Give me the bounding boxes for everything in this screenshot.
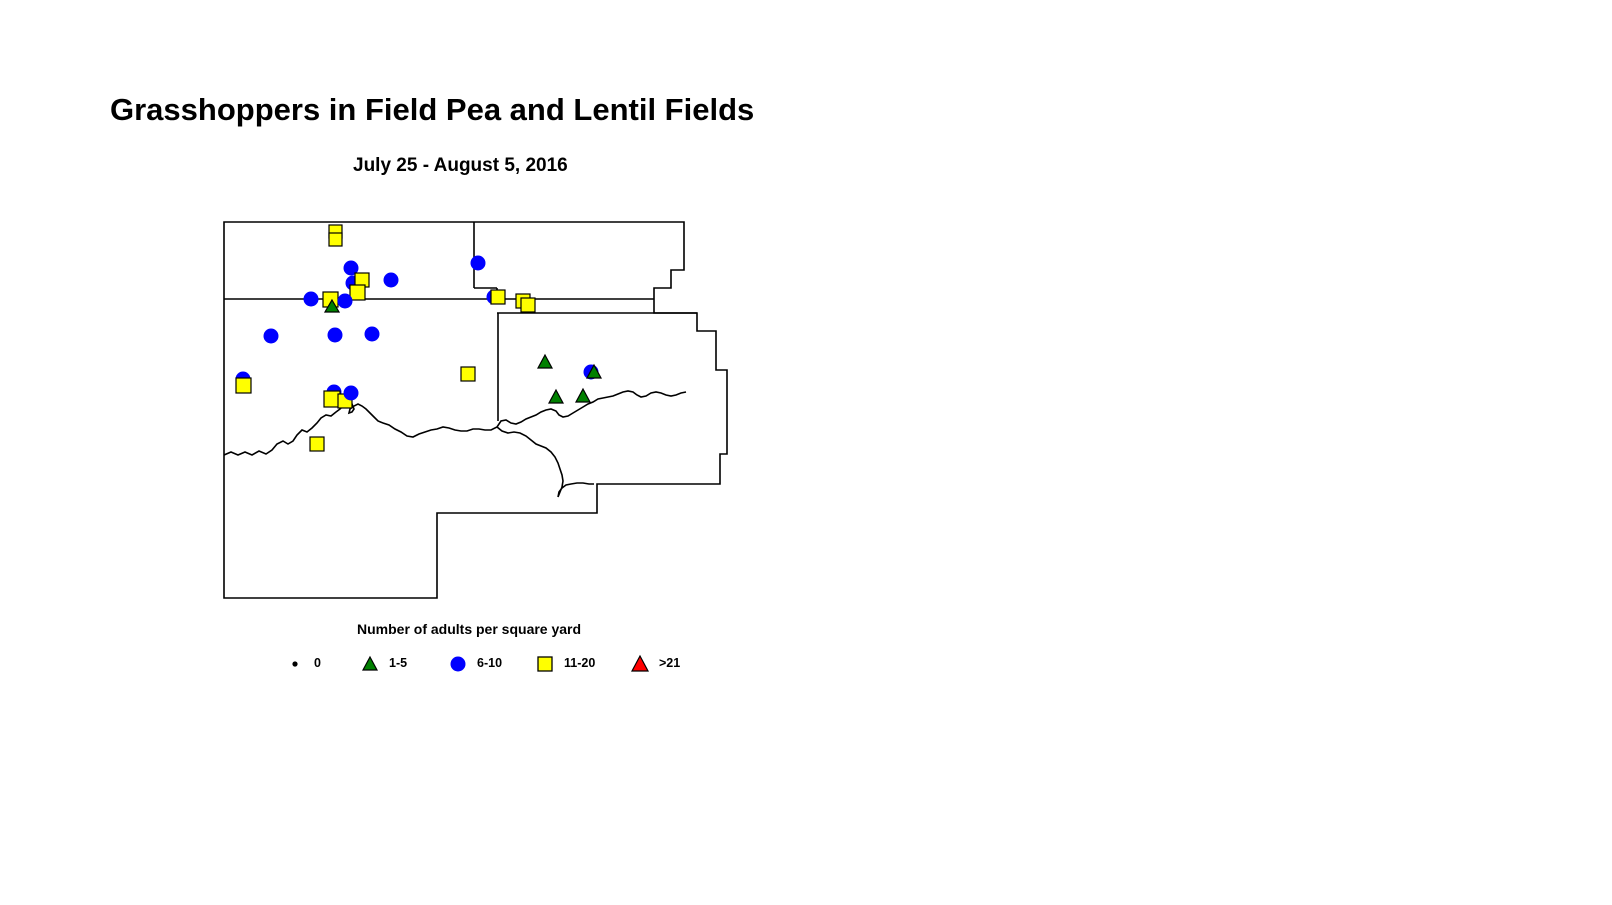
legend-title: Number of adults per square yard [357,621,581,637]
data-point [384,273,399,288]
data-point [365,327,380,342]
legend-item-1-5[interactable]: 1-5 [360,651,407,675]
data-point [304,292,319,307]
data-point [236,378,251,393]
dot-icon [285,653,305,673]
legend-label-0: 0 [314,656,321,670]
data-point [549,390,563,403]
map-data-points [236,225,602,451]
map-outline [224,222,727,598]
legend: 0 1-5 6-10 11-20 >21 [285,651,725,675]
legend-label-6-10: 6-10 [477,656,502,670]
yellow-square-icon [535,653,555,673]
data-point [538,355,552,368]
data-point [344,386,359,401]
data-point [576,389,590,402]
data-point [521,298,535,312]
data-point [338,294,353,309]
data-point [491,290,505,304]
blue-circle-icon [448,653,468,673]
legend-item-6-10[interactable]: 6-10 [448,651,502,675]
legend-item-11-20[interactable]: 11-20 [535,651,595,675]
legend-label-11-20: 11-20 [564,656,595,670]
data-point [461,367,475,381]
legend-label-over-21: >21 [659,656,680,670]
green-triangle-icon [360,653,380,673]
red-triangle-icon [630,653,650,673]
legend-item-0[interactable]: 0 [285,651,321,675]
legend-label-1-5: 1-5 [389,656,407,670]
data-point [328,328,343,343]
data-point [329,233,342,246]
map-page: Grasshoppers in Field Pea and Lentil Fie… [0,0,1612,900]
data-point [350,285,365,300]
data-point [471,256,486,271]
map-canvas [0,0,1612,900]
data-point [310,437,324,451]
legend-item-over-21[interactable]: >21 [630,651,680,675]
data-point [264,329,279,344]
